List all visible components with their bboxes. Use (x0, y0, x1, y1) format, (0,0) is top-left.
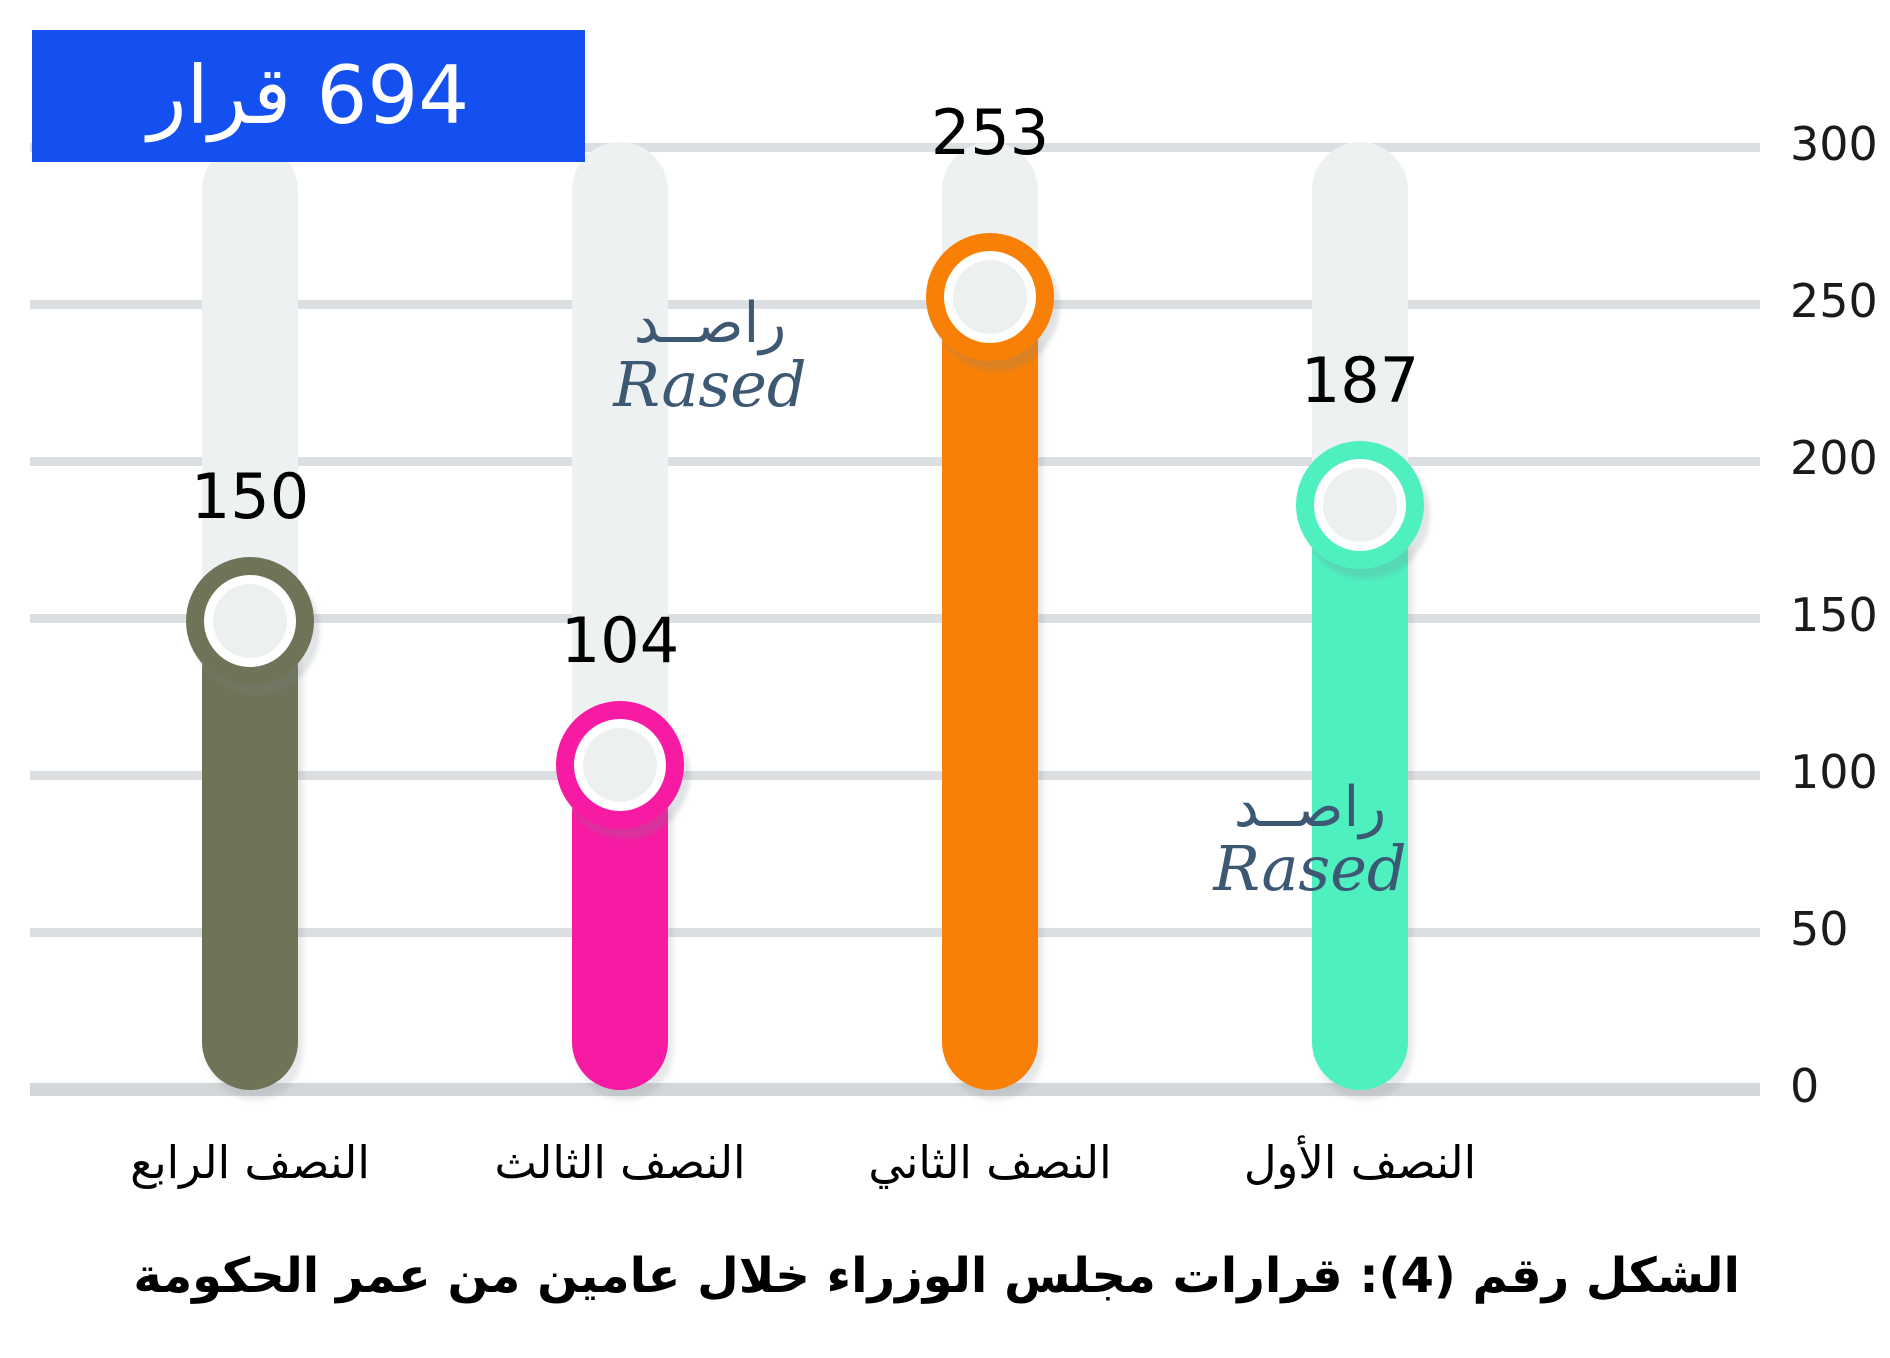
bar-value-0: 150 (191, 460, 309, 533)
bar-knob-2[interactable] (926, 233, 1054, 361)
bar-column-3[interactable] (1312, 505, 1408, 1090)
y-tick-200: 200 (1790, 431, 1878, 485)
y-tick-250: 250 (1790, 274, 1878, 328)
y-tick-150: 150 (1790, 588, 1878, 642)
x-label-3: النصف الأول (1150, 1136, 1570, 1189)
bar-column-1[interactable] (572, 765, 668, 1090)
bar-group-0[interactable]: 150 (100, 0, 400, 1120)
bar-knob-1[interactable] (556, 701, 684, 829)
bar-group-3[interactable]: 187 (1210, 0, 1510, 1120)
y-tick-50: 50 (1790, 902, 1849, 956)
y-tick-300: 300 (1790, 117, 1878, 171)
bar-column-2[interactable] (942, 297, 1038, 1090)
total-badge-label: 694 قرار (148, 56, 469, 136)
bar-value-3: 187 (1301, 344, 1419, 417)
y-tick-100: 100 (1790, 745, 1878, 799)
plot-area: 300 250 200 150 100 50 0 150 (0, 0, 1890, 1120)
bar-column-0[interactable] (202, 621, 298, 1090)
bar-knob-inner-3 (1323, 468, 1397, 542)
x-label-0: النصف الرابع (40, 1136, 460, 1189)
bar-value-1: 104 (561, 604, 679, 677)
total-badge: 694 قرار (32, 30, 585, 162)
bar-knob-3[interactable] (1296, 441, 1424, 569)
x-label-2: النصف الثاني (780, 1136, 1200, 1189)
x-label-1: النصف الثالث (410, 1136, 830, 1189)
bar-knob-inner-2 (953, 260, 1027, 334)
bar-group-1[interactable]: 104 (470, 0, 770, 1120)
bar-fill-3[interactable] (1312, 505, 1408, 1090)
bar-knob-inner-0 (213, 584, 287, 658)
chart-root: 300 250 200 150 100 50 0 150 (0, 0, 1890, 1358)
bar-group-2[interactable]: 253 (840, 0, 1140, 1120)
bar-knob-inner-1 (583, 728, 657, 802)
bar-knob-0[interactable] (186, 557, 314, 685)
bar-fill-2[interactable] (942, 297, 1038, 1090)
figure-caption: الشكل رقم (4): قرارات مجلس الوزراء خلال … (0, 1248, 1800, 1304)
y-tick-0: 0 (1790, 1059, 1819, 1113)
bar-value-2: 253 (931, 96, 1049, 169)
